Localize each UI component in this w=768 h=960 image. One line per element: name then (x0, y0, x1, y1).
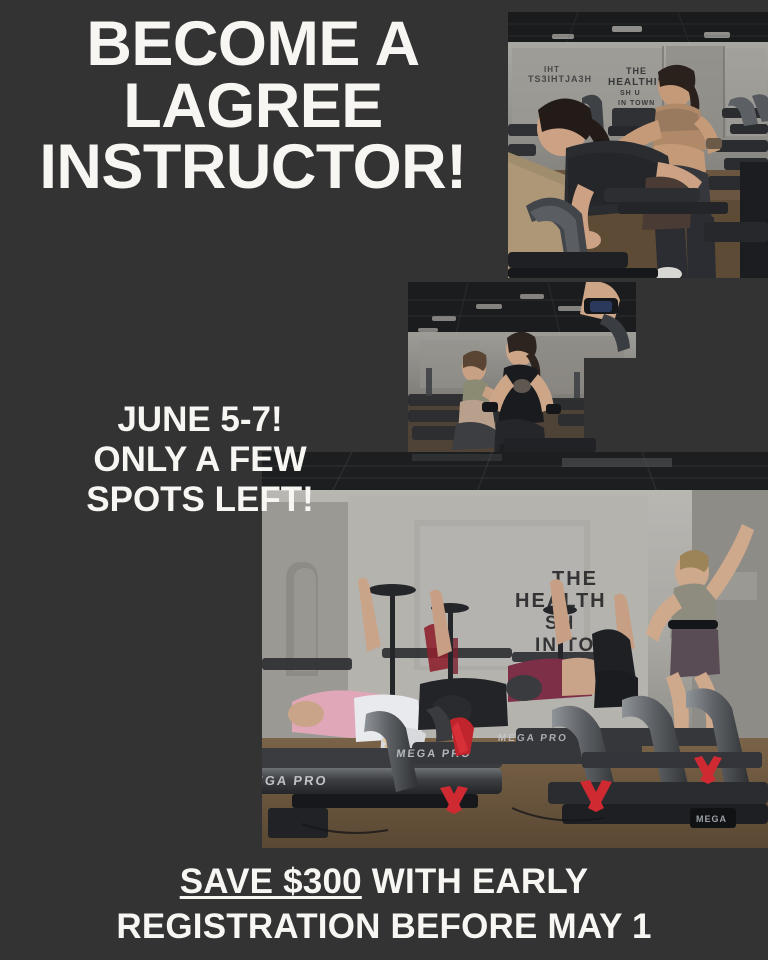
flyer-canvas: THE HEALTH SH IN TO (0, 0, 768, 960)
svg-text:SH U: SH U (620, 90, 641, 97)
footer-line-2: REGISTRATION BEFORE MAY 1 (0, 905, 768, 950)
photo-coaching (408, 282, 636, 452)
photo-trainer-spot: IHT TS3IHTJA3H THE HEALTHIEST SH U IN TO… (508, 12, 768, 278)
trainer-spot-illustration: IHT TS3IHTJA3H THE HEALTHIEST SH U IN TO… (508, 12, 768, 278)
headline-line-1: BECOME A (0, 14, 506, 76)
footer-line-1: SAVE $300 WITH EARLY (0, 860, 768, 905)
svg-text:IHT: IHT (544, 65, 560, 74)
coaching-illustration (408, 282, 636, 452)
footer-offer: SAVE $300 WITH EARLY REGISTRATION BEFORE… (0, 860, 768, 950)
svg-text:THE: THE (626, 66, 647, 76)
svg-text:MEGA: MEGA (696, 814, 727, 824)
svg-text:MEGA PRO: MEGA PRO (262, 773, 328, 788)
save-amount: SAVE $300 (180, 862, 362, 901)
subhead: JUNE 5-7! ONLY A FEW SPOTS LEFT! (0, 400, 400, 520)
headline-line-2: LAGREE (0, 76, 506, 138)
subhead-line-2: ONLY A FEW (0, 440, 400, 480)
headline: BECOME A LAGREE INSTRUCTOR! (0, 14, 506, 199)
svg-text:IN TOWN: IN TOWN (618, 100, 655, 107)
svg-text:MEGA PRO: MEGA PRO (497, 733, 568, 744)
subhead-line-3: SPOTS LEFT! (0, 480, 400, 520)
subhead-dates: JUNE 5-7! (0, 400, 400, 440)
footer-after-save: WITH EARLY (362, 862, 588, 901)
headline-line-3: INSTRUCTOR! (0, 137, 506, 199)
svg-text:TS3IHTJA3H: TS3IHTJA3H (528, 74, 592, 84)
